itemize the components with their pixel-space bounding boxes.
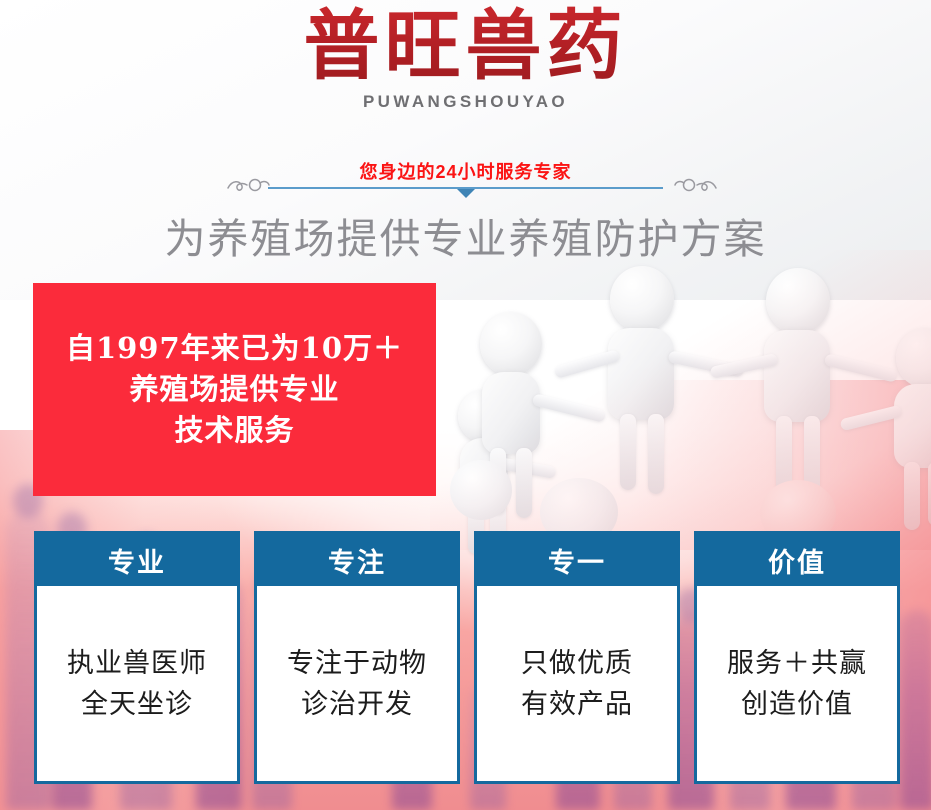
feature-card-body: 专注于动物 诊治开发 (257, 586, 457, 781)
feature-card-line-2: 创造价值 (741, 684, 853, 725)
promo-line-3: 技术服务 (174, 410, 294, 451)
feature-card-line-2: 有效产品 (521, 684, 633, 725)
feature-card-line-2: 全天坐诊 (81, 684, 193, 725)
feature-card-header: 专注 (257, 534, 457, 586)
brand-pinyin: PUWANGSHOUYAO (0, 92, 931, 112)
tagline-text: 您身边的24小时服务专家 (0, 158, 931, 184)
feature-card-body: 执业兽医师 全天坐诊 (37, 586, 237, 781)
feature-card-header: 专业 (37, 534, 237, 586)
feature-card-dedicated[interactable]: 专一 只做优质 有效产品 (474, 531, 680, 784)
feature-card-body: 服务＋共赢 创造价值 (697, 586, 897, 781)
feature-card-professional[interactable]: 专业 执业兽医师 全天坐诊 (34, 531, 240, 784)
headline: 为养殖场提供专业养殖防护方案 (0, 205, 931, 265)
brand-title: 普旺兽药 (0, 6, 931, 86)
promo-line-1: 自1997年来已为10万＋ (66, 328, 403, 369)
feature-card-body: 只做优质 有效产品 (477, 586, 677, 781)
feature-card-line-1: 只做优质 (521, 643, 633, 684)
tagline-block: 您身边的24小时服务专家 (0, 158, 931, 204)
feature-card-value[interactable]: 价值 服务＋共赢 创造价值 (694, 531, 900, 784)
feature-card-focused[interactable]: 专注 专注于动物 诊治开发 (254, 531, 460, 784)
feature-cards: 专业 执业兽医师 全天坐诊 专注 专注于动物 诊治开发 专一 只做优质 有效产品… (34, 531, 900, 784)
feature-card-line-2: 诊治开发 (301, 684, 413, 725)
feature-card-header: 价值 (697, 534, 897, 586)
promo-banner: 普旺兽药 PUWANGSHOUYAO 您身边的24小时服务专家 (0, 0, 931, 810)
feature-card-header: 专一 (477, 534, 677, 586)
feature-card-line-1: 执业兽医师 (67, 643, 207, 684)
brand-block: 普旺兽药 PUWANGSHOUYAO (0, 6, 931, 112)
tagline-caret-icon (457, 189, 475, 198)
feature-card-line-1: 专注于动物 (287, 643, 427, 684)
hero-figures-artwork (430, 250, 931, 550)
promo-box: 自1997年来已为10万＋ 养殖场提供专业 技术服务 (33, 283, 436, 496)
promo-line-2: 养殖场提供专业 (129, 369, 339, 410)
feature-card-line-1: 服务＋共赢 (727, 643, 867, 684)
